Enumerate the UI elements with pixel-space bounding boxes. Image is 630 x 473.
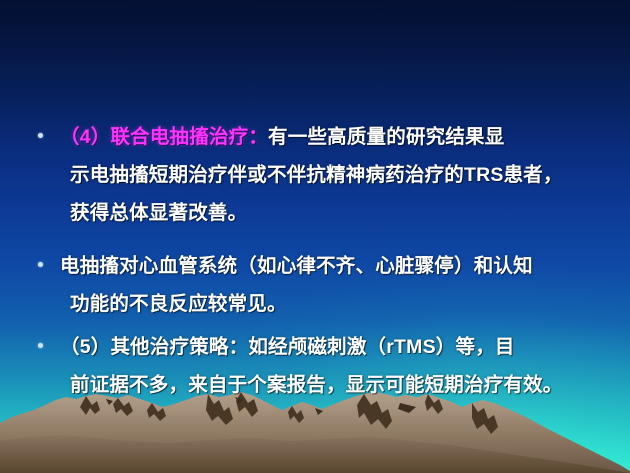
bullet-paragraph-1: （4）联合电抽搐治疗：有一些高质量的研究结果显 示电抽搐短期治疗伴或不伴抗精神病… bbox=[60, 118, 563, 232]
bullet-2-line-1: 电抽搐对心血管系统（如心律不齐、心脏骤停）和认知 bbox=[60, 247, 533, 285]
bullet-marker-1 bbox=[38, 133, 43, 138]
bullet-paragraph-3: （5）其他治疗策略：如经颅磁刺激（rTMS）等，目 前证据不多，来自于个案报告，… bbox=[60, 328, 563, 404]
bullet-3-line-2: 前证据不多，来自于个案报告，显示可能短期治疗有效。 bbox=[60, 366, 563, 404]
bullet-paragraph-2: 电抽搐对心血管系统（如心律不齐、心脏骤停）和认知 功能的不良反应较常见。 bbox=[60, 247, 533, 323]
bullet-1-line-1: （4）联合电抽搐治疗：有一些高质量的研究结果显 bbox=[60, 118, 563, 156]
bullet-marker-2 bbox=[38, 262, 43, 267]
bullet-2-line-2: 功能的不良反应较常见。 bbox=[60, 285, 533, 323]
slide-text-content: （4）联合电抽搐治疗：有一些高质量的研究结果显 示电抽搐短期治疗伴或不伴抗精神病… bbox=[0, 0, 630, 473]
bullet-1-line-1-text: 有一些高质量的研究结果显 bbox=[268, 126, 504, 148]
bullet-1-line-2: 示电抽搐短期治疗伴或不伴抗精神病药治疗的TRS患者， bbox=[60, 156, 563, 194]
bullet-marker-3 bbox=[38, 343, 43, 348]
bullet-3-line-1: （5）其他治疗策略：如经颅磁刺激（rTMS）等，目 bbox=[60, 328, 563, 366]
bullet-1-heading: （4）联合电抽搐治疗： bbox=[60, 126, 268, 148]
bullet-1-line-3: 获得总体显著改善。 bbox=[60, 194, 563, 232]
presentation-slide: （4）联合电抽搐治疗：有一些高质量的研究结果显 示电抽搐短期治疗伴或不伴抗精神病… bbox=[0, 0, 630, 473]
